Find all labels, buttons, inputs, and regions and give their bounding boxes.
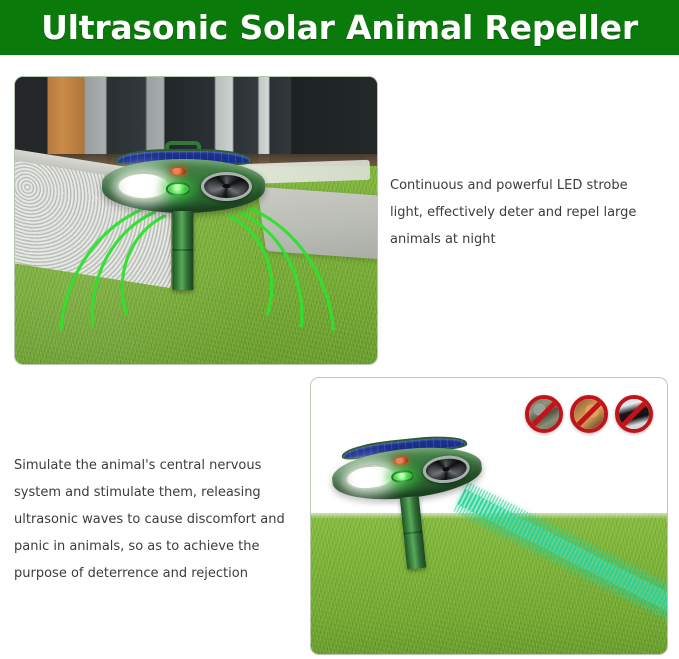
feature-text-ultrasonic-body: Simulate the animal's central nervous sy… — [14, 452, 299, 587]
repeller-device — [102, 149, 265, 224]
green-power-button — [391, 469, 415, 484]
product-feature-image: Ultrasonic Solar Animal Repeller — [0, 0, 679, 659]
red-indicator-led — [171, 168, 186, 176]
no-raccoon-icon — [525, 395, 563, 433]
no-skunk-icon — [615, 395, 653, 433]
ground-stake — [173, 211, 194, 289]
red-indicator-led — [394, 456, 408, 464]
device-body — [102, 159, 265, 213]
no-deer-icon — [570, 395, 608, 433]
feature-text-ultrasonic: Simulate the animal's central nervous sy… — [14, 452, 299, 587]
header-banner: Ultrasonic Solar Animal Repeller — [0, 0, 679, 55]
repelled-animals-badges — [525, 395, 653, 433]
product-photo-beam — [310, 377, 668, 655]
product-photo-lawn — [14, 76, 378, 365]
beam-scene — [311, 378, 667, 654]
feature-text-led-body: Continuous and powerful LED strobe light… — [390, 172, 662, 253]
feature-text-led: Continuous and powerful LED strobe light… — [390, 172, 662, 253]
paver-path — [257, 187, 377, 261]
led-strobe-light — [345, 462, 397, 493]
led-strobe-light — [117, 172, 171, 200]
page-title: Ultrasonic Solar Animal Repeller — [41, 8, 638, 47]
lawn-scene — [15, 77, 377, 364]
ultrasonic-speaker — [201, 172, 251, 201]
ultrasonic-speaker — [422, 453, 471, 485]
green-power-button — [166, 182, 190, 196]
